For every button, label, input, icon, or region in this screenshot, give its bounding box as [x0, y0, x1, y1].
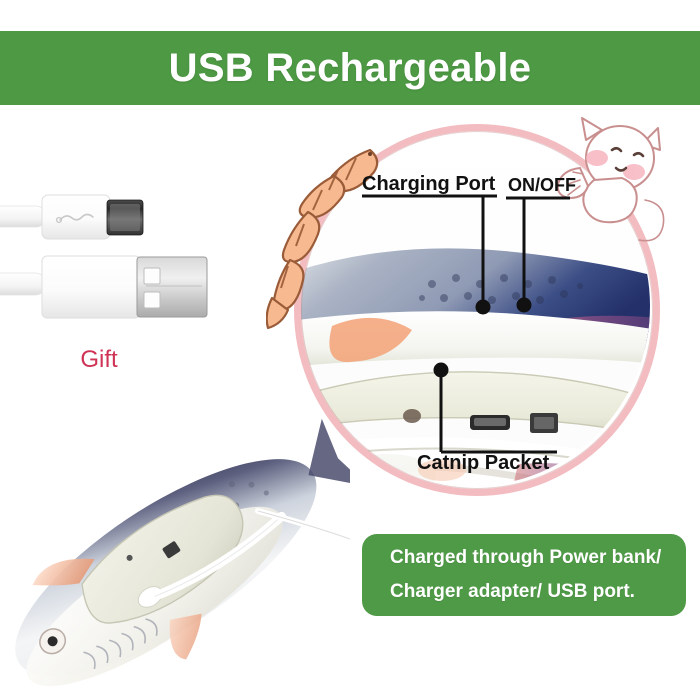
- charging-port-hardware: [470, 415, 510, 430]
- callout-on-off: ON/OFF: [508, 175, 576, 196]
- callout-catnip-packet: Catnip Packet: [417, 452, 549, 475]
- infographic-canvas: USB Rechargeable: [0, 0, 700, 700]
- charging-caption-box: Charged through Power bank/ Charger adap…: [362, 534, 686, 616]
- power-switch-hardware: [530, 413, 558, 433]
- caption-line-2: Charger adapter/ USB port.: [390, 575, 686, 609]
- caption-line-1: Charged through Power bank/: [390, 541, 686, 575]
- usb-a-connector: [0, 256, 207, 318]
- callout-charging-port: Charging Port: [362, 173, 495, 196]
- cartoon-fish-icon: [266, 132, 386, 342]
- page-title: USB Rechargeable: [169, 48, 532, 88]
- gift-label: Gift: [54, 348, 144, 372]
- usb-c-connector: [0, 195, 143, 239]
- header-banner: USB Rechargeable: [0, 31, 700, 105]
